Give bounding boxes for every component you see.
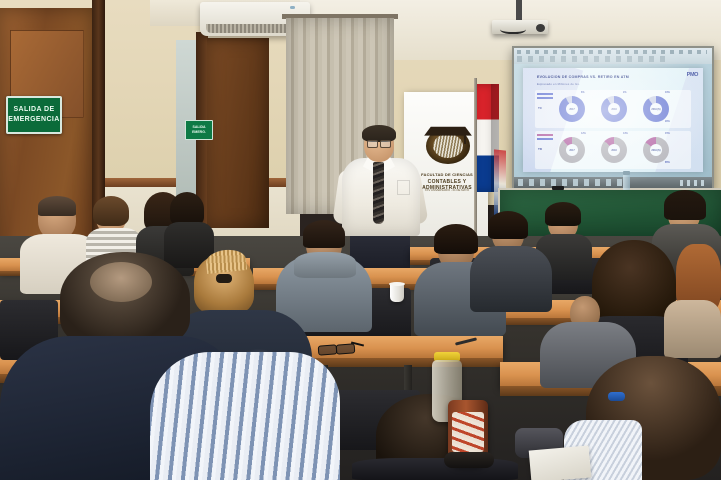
slide-subtitle: Expresado en Millones de Gs. [537,82,580,86]
exit-sign-2-line-2: EMERG. [192,130,206,135]
presenter-eyeglasses-right [380,140,391,148]
emergency-exit-sign-secondary: SALIDA EMERG. [185,120,213,140]
donut-chart-2: 2018 [601,96,627,122]
donut-6-main-value: 85% [665,161,670,164]
attendee-hair [93,196,129,226]
windows-taskbar[interactable] [514,177,712,188]
donut-chart-1: 2017 [559,96,585,122]
band-label-td: TD [538,147,542,151]
air-conditioner-led [290,6,295,9]
university-logo [426,118,470,164]
attendee-torso [664,300,721,358]
donut-chart-3: 2019 (S) [643,96,669,122]
taskbar-icons[interactable] [518,179,628,186]
ribbon-toolbar-row [517,56,667,62]
projector-lens [536,24,545,32]
presenter-shirt-pocket [397,180,410,195]
exit-sign-line-1: SALIDA DE [13,105,54,115]
donut-6-center: 2019 (S) [650,144,662,156]
eyeglasses-lens-right [336,343,356,354]
donut-chart-5: 2018 [601,137,627,163]
donut-4-side-value: 12% [581,132,586,135]
donut-6-side-value: 15% [665,132,670,135]
exit-sign-line-2: EMERGENCIA [8,115,59,125]
handout-papers [529,445,592,480]
attendee-striped-shirt [150,352,340,480]
donut-2-side-value: 9% [623,91,626,94]
taskbar-clock [680,180,708,186]
donut-chart-6: 2019 (S) [643,137,669,163]
chart-band-credit: TC 2017 8% 2018 9% 2019 (S) 10% 90% [535,90,691,128]
attendee-hair [434,224,478,254]
donut-chart-4: 2017 [559,137,585,163]
chalkboard-eraser [552,186,564,190]
donut-3-center: 2019 (S) [650,103,662,115]
door-second[interactable] [207,38,269,228]
water-bottle [623,174,630,190]
attendee-hair [664,190,706,220]
donut-2-center: 2018 [608,103,620,115]
attendee-torso [470,246,552,312]
donut-3-side-value: 10% [665,91,670,94]
hair-clip [216,274,232,283]
guampa-decoration [452,412,484,452]
water-bottle-cap [623,171,630,175]
donut-1-center: 2017 [566,103,578,115]
logo-tassel [464,132,466,144]
blue-wristband [608,392,625,401]
chart-legend-top [537,93,553,100]
eyeglasses-lens-left [318,344,338,355]
chart-legend-bottom [537,134,553,141]
presenter-eyeglasses-left [367,140,378,148]
guampa-base [444,452,494,468]
attendee-hair [303,220,345,248]
slide-title: EVOLUCION DE COMPRAS VS. RETIRO EN ATM [537,75,657,80]
classroom-presentation-photo: SALIDA DE EMERGENCIA SALIDA EMERG. PMO E… [0,0,721,480]
eyeglasses-on-desk [318,343,362,354]
donut-4-center: 2017 [566,144,578,156]
attendee-hair [38,196,76,216]
slide-brand-logo: PMO [687,72,698,78]
emergency-exit-sign: SALIDA DE EMERGENCIA [6,96,62,134]
projected-slide: PMO EVOLUCION DE COMPRAS VS. RETIRO EN A… [523,68,703,172]
logo-quill-icon [433,134,463,158]
attendee-hair [488,211,528,239]
donut-5-center: 2018 [608,144,620,156]
donut-1-side-value: 8% [581,91,584,94]
attendee-hair [170,192,204,226]
coffee-cup-rim [389,282,405,286]
attendee-hood [294,252,356,278]
ribbon-menu-row [517,50,707,54]
projector-cable [500,22,526,34]
presentation-software-ribbon [514,48,712,64]
band-label-tc: TC [538,106,542,110]
projector-mount-pole [516,0,522,22]
chart-band-debit: TD 2017 12% 2018 13% 2019 (S) 15% 85% [535,131,691,169]
projection-screen: PMO EVOLUCION DE COMPRAS VS. RETIRO EN A… [512,46,714,190]
attendee-bald-spot [90,262,152,302]
donut-3-main-value: 90% [665,120,670,123]
presenter-necktie [373,162,384,224]
attendee-hair [545,202,581,226]
donut-5-side-value: 13% [623,132,628,135]
